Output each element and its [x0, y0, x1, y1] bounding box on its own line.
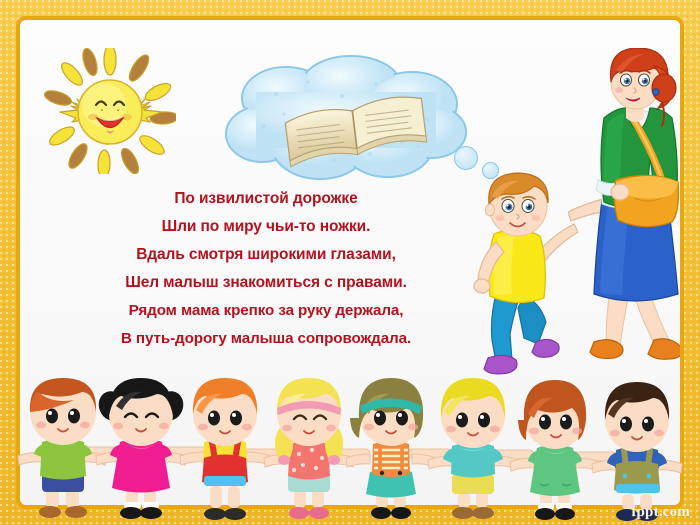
poem-line-5: Рядом мама крепко за руку держала, — [46, 297, 486, 325]
children-holding-hands-row — [0, 372, 700, 525]
thought-cloud-with-book-icon — [216, 54, 486, 194]
slide-canvas: По извилистой дорожке Шли по миру чьи-то… — [0, 0, 700, 525]
thought-bubble-large — [454, 146, 478, 170]
walking-mother-illustration — [568, 48, 680, 384]
poem-line-2: Шли по миру чьи-то ножки. — [46, 213, 486, 241]
poem-line-6: В путь-дорогу малыша сопровождала. — [46, 325, 486, 353]
walking-boy-illustration — [458, 168, 578, 383]
watermark: fppt.com — [631, 504, 690, 521]
poem-line-4: Шел малыш знакомиться с правами. — [46, 269, 486, 297]
poem-text: По извилистой дорожке Шли по миру чьи-то… — [46, 185, 486, 353]
child-4 — [264, 378, 354, 519]
smiling-sun-icon — [44, 48, 176, 174]
poem-line-3: Вдаль смотря широкими глазами, — [46, 241, 486, 269]
poem-line-1: По извилистой дорожке — [46, 185, 486, 213]
